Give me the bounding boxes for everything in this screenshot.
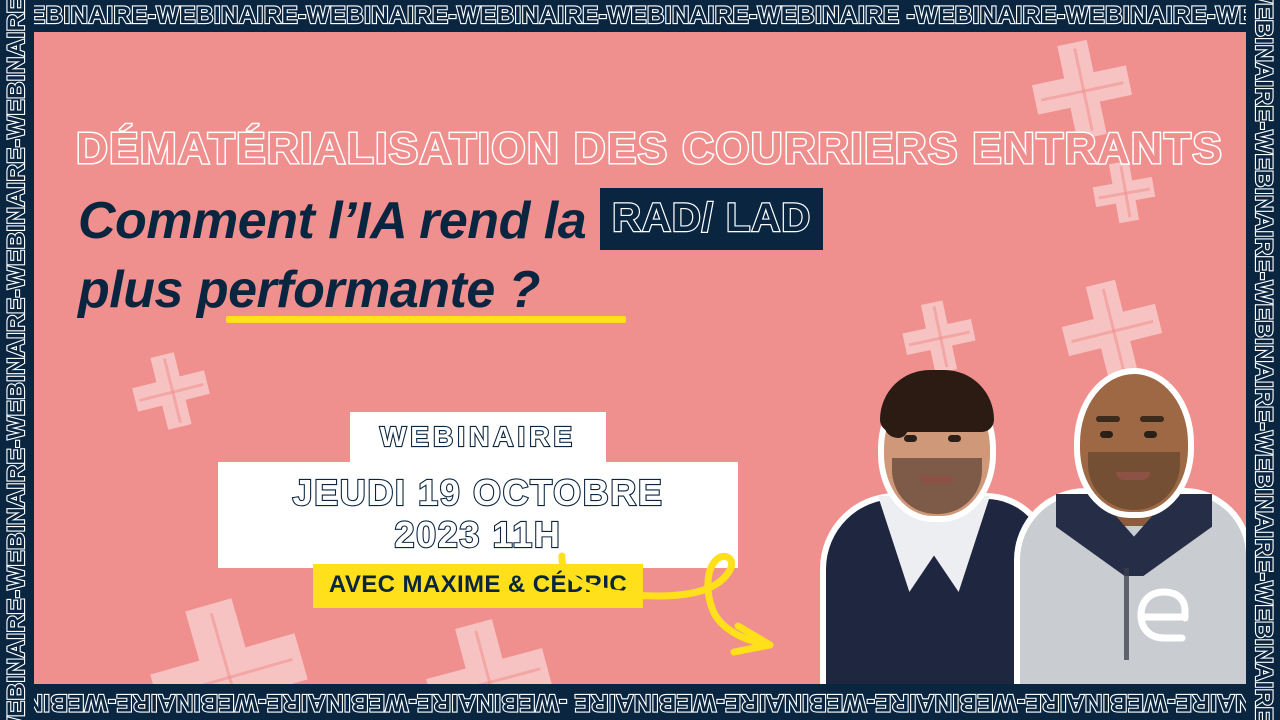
speaker-cedric-eye-right — [1144, 431, 1157, 438]
webinaire-label: WEBINAIRE — [350, 412, 606, 464]
speaker-cedric-brow-left — [1096, 416, 1120, 422]
speaker-maxime — [826, 334, 1046, 684]
speaker-maxime-eye-left — [904, 435, 917, 442]
poster-canvas: DÉMATÉRIALISATION DES COURRIERS ENTRANTS… — [34, 32, 1246, 684]
rad-lad-badge: RAD/ LAD — [600, 188, 823, 250]
speaker-maxime-eye-right — [948, 435, 961, 442]
subtitle-line-1: Comment l’IA rend la RAD/ LAD — [78, 192, 823, 257]
marquee-text-bottom: WEBINAIRE-WEBINAIRE-WEBINAIRE-WEBINAIRE-… — [0, 690, 1280, 714]
marquee-border-right: WEBINAIRE-WEBINAIRE-WEBINAIRE-WEBINAIRE-… — [1246, 0, 1280, 720]
marquee-border-bottom: WEBINAIRE-WEBINAIRE-WEBINAIRE-WEBINAIRE-… — [0, 684, 1280, 720]
speaker-maxime-mouth — [920, 476, 954, 484]
subtitle-text-before: Comment l’IA rend la — [78, 192, 600, 250]
webinar-poster: DÉMATÉRIALISATION DES COURRIERS ENTRANTS… — [0, 0, 1280, 720]
speaker-maxime-hair — [880, 370, 994, 432]
speaker-cedric-mouth — [1116, 472, 1150, 480]
marquee-left-wrapper: WEBINAIRE-WEBINAIRE-WEBINAIRE-WEBINAIRE-… — [0, 0, 34, 720]
marquee-border-top: WEBINAIRE-WEBINAIRE-WEBINAIRE-WEBINAIRE-… — [0, 0, 1280, 32]
subtitle-line-2: plus performante ? — [78, 261, 823, 321]
marquee-text-top: WEBINAIRE-WEBINAIRE-WEBINAIRE-WEBINAIRE-… — [0, 4, 1280, 28]
speakers-photo — [826, 314, 1246, 684]
decorative-cross-icon — [416, 609, 563, 684]
marquee-right-wrapper: WEBINAIRE-WEBINAIRE-WEBINAIRE-WEBINAIRE-… — [1246, 0, 1280, 720]
marquee-text-left: WEBINAIRE-WEBINAIRE-WEBINAIRE-WEBINAIRE-… — [5, 0, 29, 720]
info-row-kind: WEBINAIRE — [218, 412, 738, 464]
marquee-border-left: WEBINAIRE-WEBINAIRE-WEBINAIRE-WEBINAIRE-… — [0, 0, 34, 720]
page-title: DÉMATÉRIALISATION DES COURRIERS ENTRANTS — [76, 124, 1223, 174]
curly-arrow-icon — [554, 548, 814, 663]
speaker-cedric-eye-left — [1100, 431, 1113, 438]
decorative-cross-icon — [126, 346, 216, 436]
subtitle: Comment l’IA rend la RAD/ LAD plus perfo… — [78, 192, 823, 321]
marquee-text-right: WEBINAIRE-WEBINAIRE-WEBINAIRE-WEBINAIRE-… — [1251, 0, 1275, 720]
yellow-underline — [226, 316, 626, 323]
subtitle-text-line2: plus performante ? — [78, 261, 540, 319]
brand-logo-e-icon — [1128, 582, 1194, 648]
speaker-cedric-brow-right — [1140, 416, 1164, 422]
